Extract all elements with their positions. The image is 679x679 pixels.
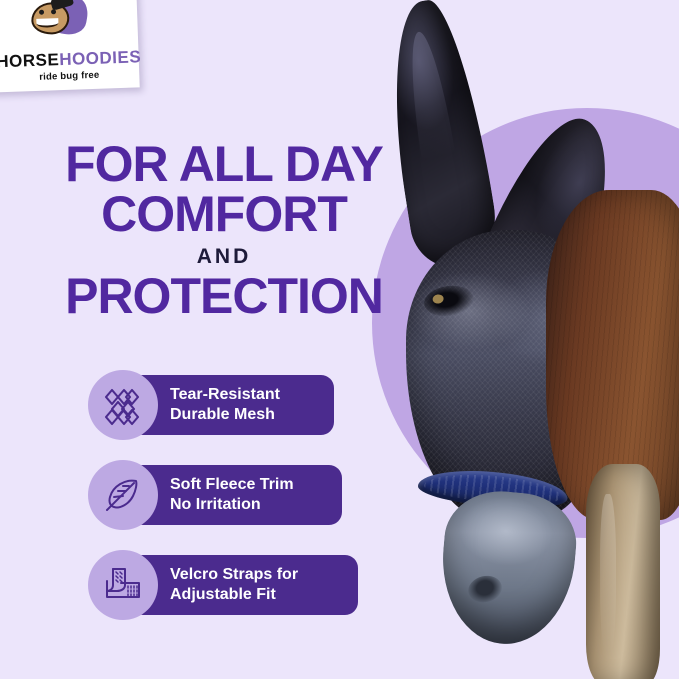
- feature-label-velcro-straps: Velcro Straps for Adjustable Fit: [170, 565, 298, 604]
- feature-label-line-2: Adjustable Fit: [170, 585, 298, 605]
- mule-muzzle: [436, 487, 581, 650]
- feature-badge-velcro-straps[interactable]: Velcro Straps for Adjustable Fit: [88, 550, 298, 620]
- feature-badge-soft-fleece[interactable]: Soft Fleece Trim No Irritation: [88, 460, 298, 530]
- feature-label-line-1: Tear-Resistant: [170, 385, 280, 405]
- mule-foreleg: [586, 464, 660, 679]
- headline-line-1: FOR ALL DAY: [44, 140, 404, 188]
- mule-nostril: [466, 573, 505, 606]
- brand-word-horse: HORSE: [0, 50, 60, 71]
- mule-eye: [422, 283, 476, 320]
- headline-block: FOR ALL DAY COMFORT AND PROTECTION: [44, 140, 404, 320]
- promo-poster: HORSEHOODIES ride bug free FOR ALL DAY C…: [0, 0, 679, 679]
- feature-label-line-1: Soft Fleece Trim: [170, 475, 294, 495]
- brand-logo-card[interactable]: HORSEHOODIES ride bug free: [0, 0, 140, 93]
- feature-label-soft-fleece: Soft Fleece Trim No Irritation: [170, 475, 294, 514]
- product-photo-mule-with-fly-mask: [350, 0, 679, 679]
- velcro-strap-icon: [88, 550, 158, 620]
- feature-label-line-1: Velcro Straps for: [170, 565, 298, 585]
- headline-line-2: COMFORT: [44, 190, 404, 238]
- horse-mascot-icon: [26, 0, 90, 43]
- brand-tagline: ride bug free: [39, 70, 99, 83]
- feature-label-line-2: Durable Mesh: [170, 405, 280, 425]
- feature-label-tear-resistant: Tear-Resistant Durable Mesh: [170, 385, 280, 424]
- feature-badge-list: Tear-Resistant Durable Mesh Soft: [88, 370, 298, 640]
- headline-line-3: PROTECTION: [44, 272, 404, 320]
- feature-badge-tear-resistant[interactable]: Tear-Resistant Durable Mesh: [88, 370, 298, 440]
- feather-icon: [88, 460, 158, 530]
- mesh-lattice-icon: [88, 370, 158, 440]
- feature-label-line-2: No Irritation: [170, 495, 294, 515]
- brand-wordmark: HORSEHOODIES: [0, 48, 141, 70]
- headline-connector: AND: [44, 245, 404, 269]
- brand-word-hoodies: HOODIES: [59, 47, 142, 69]
